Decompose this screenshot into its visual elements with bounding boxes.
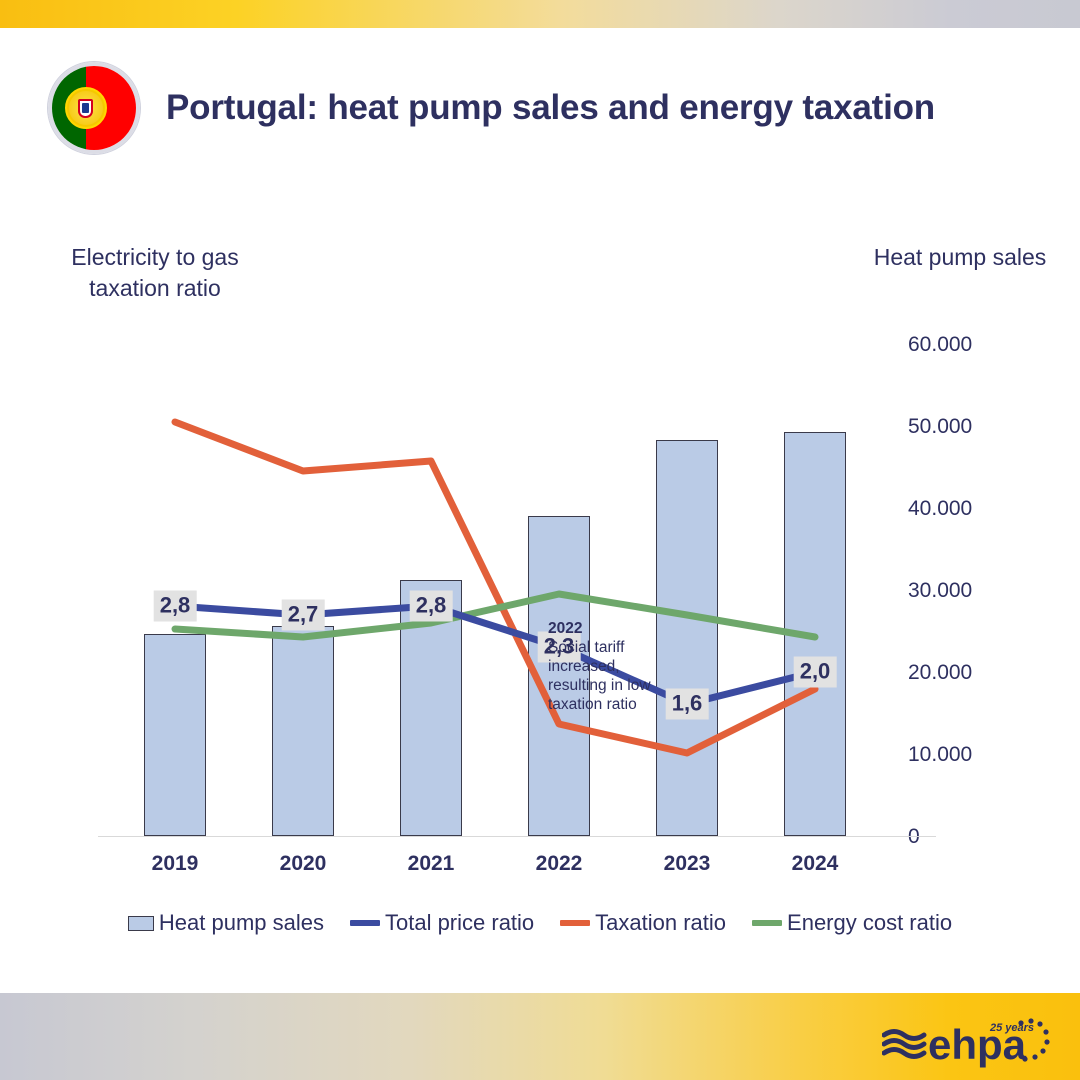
chart-legend: Heat pump sales Total price ratio Taxati… [0, 910, 1080, 936]
wave-icon [884, 1032, 924, 1057]
page-title: Portugal: heat pump sales and energy tax… [166, 88, 935, 128]
legend-item-taxation-ratio[interactable]: Taxation ratio [560, 910, 726, 936]
x-label-2022: 2022 [499, 852, 619, 876]
right-ytick-40000: 40.000 [908, 497, 1018, 521]
x-label-2024: 2024 [755, 852, 875, 876]
data-label-2023: 1,6 [666, 689, 709, 720]
annotation-year: 2022 [548, 619, 660, 638]
legend-bar-swatch-icon [128, 916, 154, 931]
taxation-ratio-line [175, 422, 815, 753]
portugal-flag-icon [48, 62, 140, 154]
legend-item-total-price-ratio[interactable]: Total price ratio [350, 910, 534, 936]
x-axis-line [118, 836, 890, 837]
right-ytick-30000: 30.000 [908, 579, 1018, 603]
chart-container: Electricity to gas taxation ratio Heat p… [0, 230, 1080, 960]
right-ytick-50000: 50.000 [908, 415, 1018, 439]
right-ytick-60000: 60.000 [908, 333, 1018, 357]
slide-canvas: Portugal: heat pump sales and energy tax… [0, 0, 1080, 1080]
right-ytick-20000: 20.000 [908, 661, 1018, 685]
data-label-2024: 2,0 [794, 657, 837, 688]
right-axis-title: Heat pump sales [870, 242, 1050, 273]
right-ytick-0: 0 [908, 825, 1018, 849]
data-label-2020: 2,7 [282, 600, 325, 631]
series-lines [118, 344, 890, 836]
legend-label-heat-pump-sales: Heat pump sales [159, 910, 324, 936]
flag-armillary-emblem [65, 87, 107, 129]
x-label-2019: 2019 [115, 852, 235, 876]
slide-header: Portugal: heat pump sales and energy tax… [48, 62, 935, 154]
logo-badge-text: 25 years [989, 1022, 1034, 1034]
chart-annotation: 2022 Social tariff increased, resulting … [548, 619, 660, 714]
ehpa-logo: ehpa 25 years [882, 1015, 1052, 1073]
x-axis-line-extension-left [98, 836, 118, 837]
ehpa-logo-mark: ehpa 25 years [882, 1015, 1052, 1073]
legend-item-energy-cost-ratio[interactable]: Energy cost ratio [752, 910, 952, 936]
flag-shield [78, 99, 93, 118]
x-label-2021: 2021 [371, 852, 491, 876]
legend-label-total-price-ratio: Total price ratio [385, 910, 534, 936]
plot-area: 6,0 5,0 4,0 3,0 2,0 1,0 0,0 60.000 50.00… [118, 344, 890, 836]
data-label-2019: 2,8 [154, 591, 197, 622]
legend-label-taxation-ratio: Taxation ratio [595, 910, 726, 936]
left-axis-title: Electricity to gas taxation ratio [60, 242, 250, 304]
x-label-2020: 2020 [243, 852, 363, 876]
legend-label-energy-cost-ratio: Energy cost ratio [787, 910, 952, 936]
legend-line-swatch-icon [752, 920, 782, 926]
legend-line-swatch-icon [350, 920, 380, 926]
x-axis-line-extension-right [890, 836, 936, 837]
legend-item-heat-pump-sales[interactable]: Heat pump sales [128, 910, 324, 936]
legend-line-swatch-icon [560, 920, 590, 926]
top-gradient-band [0, 0, 1080, 28]
x-label-2023: 2023 [627, 852, 747, 876]
annotation-text: Social tariff increased, resulting in lo… [548, 639, 651, 713]
data-label-2021: 2,8 [410, 591, 453, 622]
right-ytick-10000: 10.000 [908, 743, 1018, 767]
